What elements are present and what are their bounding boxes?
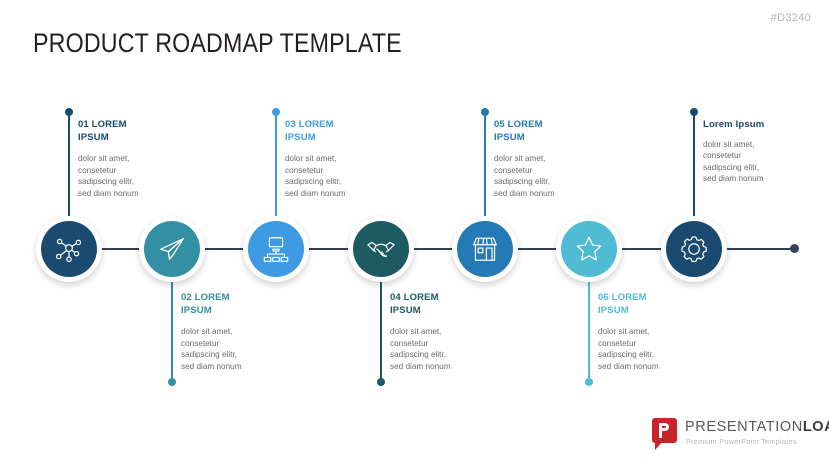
logo-wordmark: PRESENTATIONLOAD®	[685, 419, 829, 435]
milestone-heading-7: Lorem Ipsum	[703, 119, 807, 132]
milestone-heading-6: 06 LOREM IPSUM	[598, 292, 702, 317]
connector-dot-6	[585, 378, 593, 386]
milestone-block-2: 02 LOREM IPSUMdolor sit amet, consetetur…	[181, 292, 285, 372]
connector-stem-7	[693, 112, 695, 222]
milestone-block-1: 01 LOREM IPSUMdolor sit amet, consetetur…	[78, 119, 182, 199]
milestone-body-2: dolor sit amet, consetetur sadipscing el…	[181, 326, 285, 372]
node-disc	[41, 221, 97, 277]
star-icon	[574, 234, 604, 264]
logo-p-glyph	[659, 423, 669, 438]
logo-name-bold: LOAD	[803, 419, 829, 435]
node-disc	[353, 221, 409, 277]
timeline-node-4[interactable]	[348, 216, 414, 282]
connector-stem-3	[275, 112, 277, 222]
connector-dot-5	[481, 108, 489, 116]
connector-dot-2	[168, 378, 176, 386]
milestone-body-3: dolor sit amet, consetetur sadipscing el…	[285, 153, 389, 199]
logo-name-light: PRESENTATION	[685, 419, 803, 435]
timeline-node-7[interactable]	[661, 216, 727, 282]
milestone-block-3: 03 LOREM IPSUMdolor sit amet, consetetur…	[285, 119, 389, 199]
connector-dot-1	[65, 108, 73, 116]
milestone-heading-4: 04 LOREM IPSUM	[390, 292, 494, 317]
timeline-end-dot	[790, 244, 799, 253]
node-disc	[457, 221, 513, 277]
timeline-node-1[interactable]	[36, 216, 102, 282]
slide-canvas: #D3240 PRODUCT ROADMAP TEMPLATE 01 LOREM…	[0, 0, 829, 466]
connector-stem-6	[588, 276, 590, 382]
milestone-body-1: dolor sit amet, consetetur sadipscing el…	[78, 153, 182, 199]
timeline-node-6[interactable]	[556, 216, 622, 282]
timeline-node-3[interactable]	[243, 216, 309, 282]
milestone-body-7: dolor sit amet, consetetur sadipscing el…	[703, 139, 807, 185]
milestone-heading-5: 05 LOREM IPSUM	[494, 119, 598, 144]
logo-tagline: Premium PowerPoint Templates	[686, 437, 797, 446]
presentationload-logo: PRESENTATIONLOAD® Premium PowerPoint Tem…	[652, 416, 817, 450]
connector-stem-4	[380, 276, 382, 382]
document-code: #D3240	[771, 12, 811, 24]
connector-stem-1	[68, 112, 70, 222]
node-disc	[666, 221, 722, 277]
milestone-block-7: Lorem Ipsumdolor sit amet, consetetur sa…	[703, 119, 807, 185]
handshake-icon	[366, 234, 396, 264]
paper-plane-icon	[157, 234, 187, 264]
milestone-block-6: 06 LOREM IPSUMdolor sit amet, consetetur…	[598, 292, 702, 372]
node-disc	[248, 221, 304, 277]
node-disc	[561, 221, 617, 277]
speech-bubble-icon	[652, 418, 677, 443]
milestone-heading-2: 02 LOREM IPSUM	[181, 292, 285, 317]
connector-stem-2	[171, 276, 173, 382]
connector-dot-7	[690, 108, 698, 116]
timeline-node-2[interactable]	[139, 216, 205, 282]
milestone-body-5: dolor sit amet, consetetur sadipscing el…	[494, 153, 598, 199]
computer-network-icon	[261, 234, 291, 264]
node-disc	[144, 221, 200, 277]
milestone-block-5: 05 LOREM IPSUMdolor sit amet, consetetur…	[494, 119, 598, 199]
connector-dot-4	[377, 378, 385, 386]
milestone-heading-3: 03 LOREM IPSUM	[285, 119, 389, 144]
network-nodes-icon	[54, 234, 84, 264]
milestone-body-4: dolor sit amet, consetetur sadipscing el…	[390, 326, 494, 372]
gear-icon	[679, 234, 709, 264]
milestone-body-6: dolor sit amet, consetetur sadipscing el…	[598, 326, 702, 372]
connector-dot-3	[272, 108, 280, 116]
connector-stem-5	[484, 112, 486, 222]
page-title: PRODUCT ROADMAP TEMPLATE	[33, 28, 402, 58]
milestone-heading-1: 01 LOREM IPSUM	[78, 119, 182, 144]
milestone-block-4: 04 LOREM IPSUMdolor sit amet, consetetur…	[390, 292, 494, 372]
timeline-node-5[interactable]	[452, 216, 518, 282]
storefront-icon	[470, 234, 500, 264]
